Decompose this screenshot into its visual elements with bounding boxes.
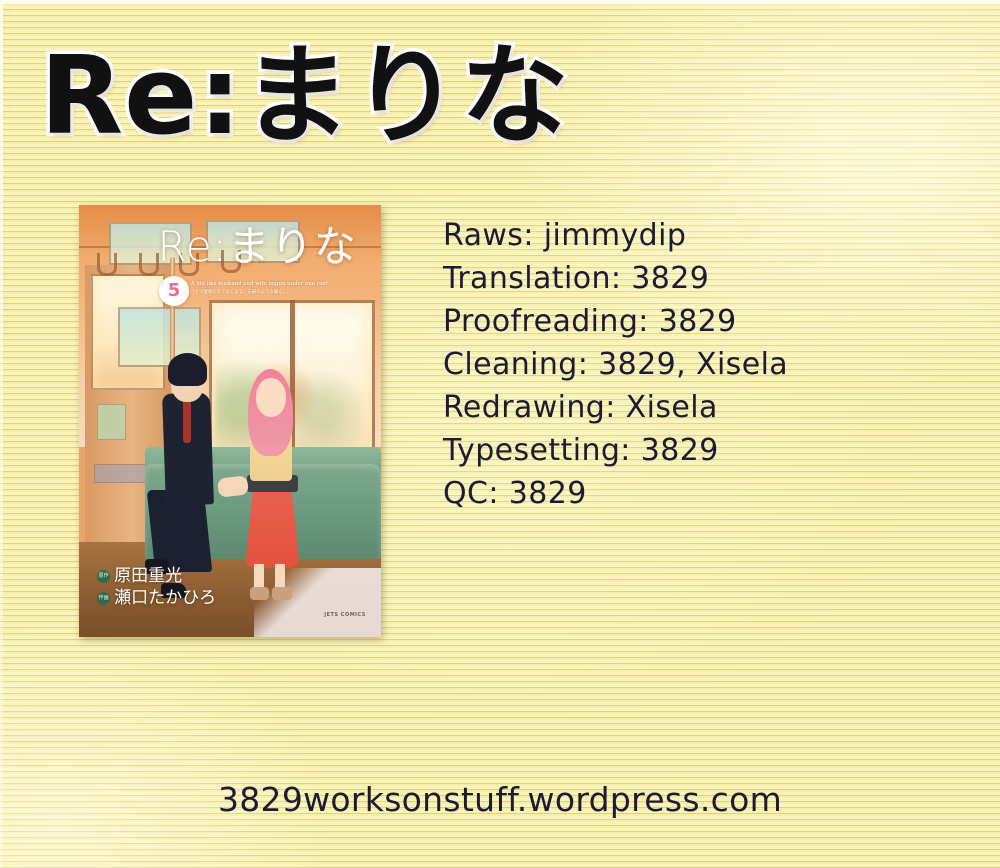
credit-line-typesetting: Typesetting: 3829	[443, 429, 963, 472]
author-row: 原作 原田重光	[97, 567, 216, 586]
hand-strap	[97, 253, 117, 276]
cover-author-credits: 原作 原田重光 作画 瀬口たかひろ	[97, 567, 216, 611]
train-poster	[97, 404, 126, 441]
cover-tagline-jp: ひとつ屋根の下ではじまる、夫婦のような暮らし。	[191, 289, 366, 296]
cover-tagline-en: A life like husband and wife begun under…	[191, 281, 330, 287]
credit-line-redrawing: Redrawing: Xisela	[443, 386, 963, 429]
left-border	[0, 0, 3, 868]
manga-cover: Re:まりな 5 A life like husband and wife be…	[79, 205, 381, 637]
author-name: 瀬口たかひろ	[114, 589, 216, 608]
series-title-block: Re:まりな	[40, 32, 640, 162]
male-character-hair	[168, 353, 207, 385]
author-role-badge: 原作	[97, 570, 110, 583]
hand-strap	[139, 253, 159, 276]
series-title: Re:まりな	[40, 32, 640, 162]
cover-tagline: A life like husband and wife begun under…	[191, 280, 366, 296]
credit-line-cleaning: Cleaning: 3829, Xisela	[443, 343, 963, 386]
female-character-shoe	[250, 587, 270, 600]
credit-line-raws: Raws: jimmydip	[443, 214, 963, 257]
cover-imprint-logo: JETS COMICS	[324, 612, 366, 618]
male-character-tie	[183, 399, 191, 442]
site-url[interactable]: 3829worksonstuff.wordpress.com	[0, 780, 1000, 820]
floor-highlight	[254, 568, 381, 637]
female-character-head	[256, 378, 286, 417]
credit-line-translation: Translation: 3829	[443, 257, 963, 300]
female-character-leg	[275, 564, 285, 590]
top-border	[0, 0, 1000, 4]
author-name: 原田重光	[114, 567, 182, 586]
female-character-leg	[254, 564, 264, 590]
cover-title: Re:まりな	[158, 222, 357, 272]
credits-page: Re:まりな	[0, 0, 1000, 868]
credits-list: Raws: jimmydip Translation: 3829 Proofre…	[443, 214, 963, 515]
female-character-shoe	[272, 587, 292, 600]
credit-line-qc: QC: 3829	[443, 472, 963, 515]
author-role-badge: 作画	[97, 592, 110, 605]
female-character-skirt	[245, 490, 299, 568]
author-row: 作画 瀬口たかひろ	[97, 589, 216, 608]
credit-line-proofreading: Proofreading: 3829	[443, 300, 963, 343]
